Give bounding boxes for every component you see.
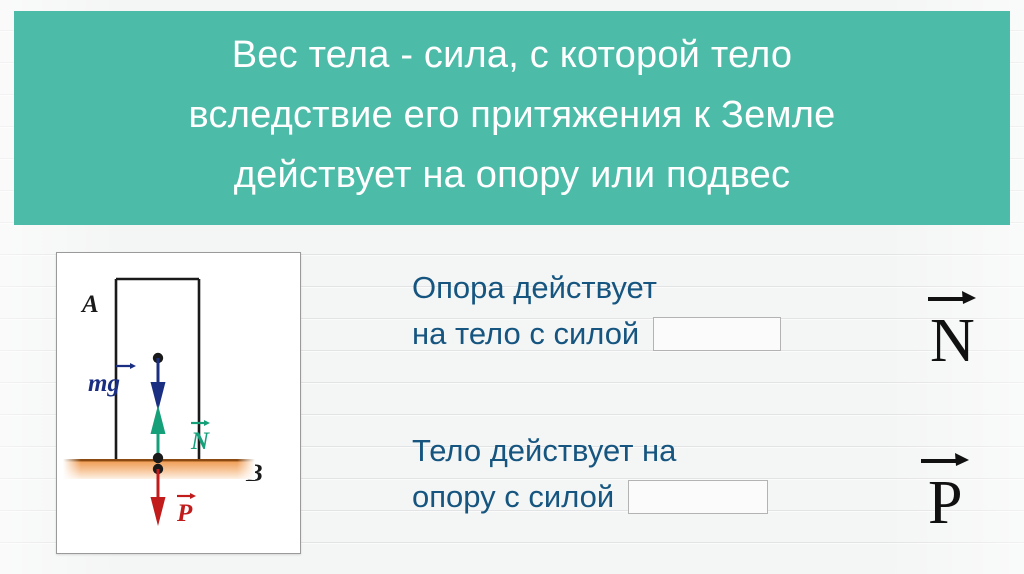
label-n: N (190, 428, 210, 455)
label-mg-vector-arrow (116, 363, 136, 369)
banner-line-2: вследствие его притяжения к Земле (189, 85, 836, 145)
statement-2-line-1: Тело действует на (412, 428, 768, 474)
banner-line-1: Вес тела - сила, с которой тело (232, 25, 792, 85)
statement-2-line-2-row: опору с силой (412, 474, 768, 520)
answer-input-force-n[interactable] (653, 317, 781, 351)
banner-line-3: действует на опору или подвес (234, 145, 790, 205)
vector-symbol-n-arrow-icon (926, 288, 978, 306)
vector-symbol-p-letter: P (928, 472, 962, 534)
label-p: P (176, 500, 193, 527)
vector-symbol-n: N (930, 310, 975, 372)
statement-1-line-2: на тело с силой (412, 311, 639, 357)
label-mg: mg (88, 370, 120, 397)
label-n-vector-arrow (191, 420, 210, 426)
force-diagram: A B mg (57, 253, 300, 553)
label-a: A (80, 291, 99, 318)
vector-symbol-p-arrow-icon (919, 450, 971, 468)
definition-banner: Вес тела - сила, с которой тело вследств… (14, 11, 1010, 225)
answer-input-force-p[interactable] (628, 480, 768, 514)
vector-mg (151, 353, 166, 411)
label-p-vector-arrow (177, 493, 196, 499)
statement-body-on-support: Тело действует на опору с силой (412, 428, 768, 520)
statement-1-line-1: Опора действует (412, 265, 781, 311)
statement-2-line-2: опору с силой (412, 474, 614, 520)
vector-n (151, 405, 166, 463)
slide-root: Вес тела - сила, с которой тело вследств… (0, 0, 1024, 574)
vector-symbol-n-letter: N (930, 310, 975, 372)
vector-symbol-p: P (928, 472, 962, 534)
physics-diagram-card: A B mg (56, 252, 301, 554)
statement-1-line-2-row: на тело с силой (412, 311, 781, 357)
statement-support-on-body: Опора действует на тело с силой (412, 265, 781, 357)
